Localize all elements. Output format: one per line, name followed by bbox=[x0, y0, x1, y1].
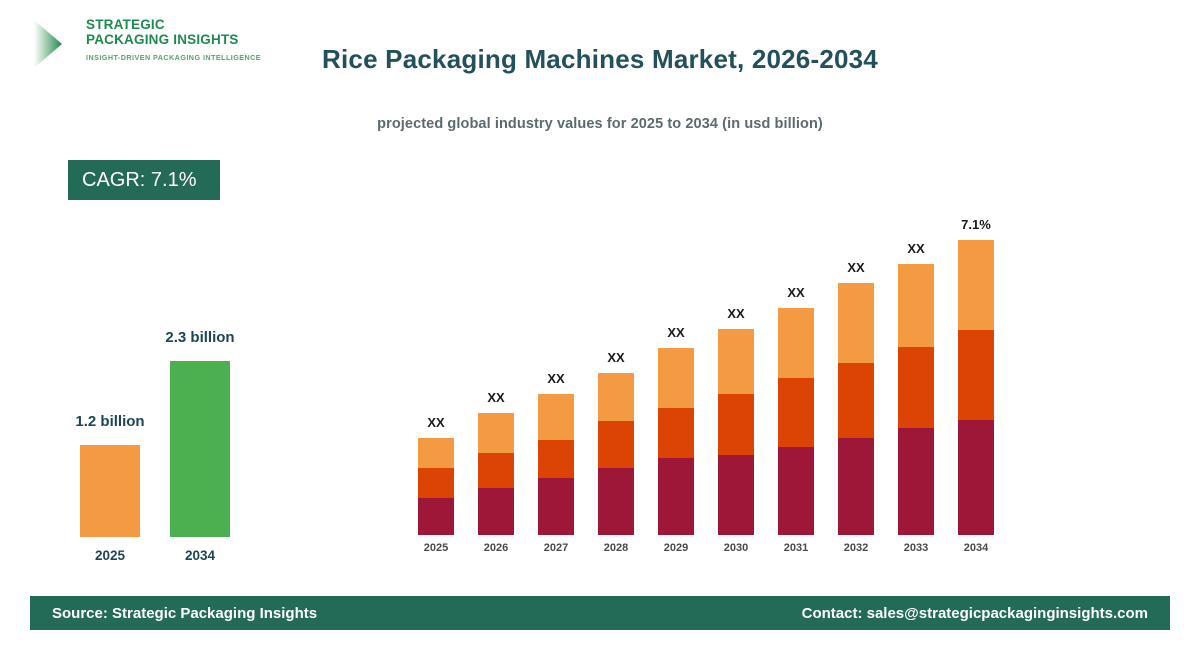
stacked-bar-2033-segment-top bbox=[898, 264, 934, 347]
stacked-bar-2025 bbox=[418, 438, 454, 535]
stacked-bar-2032-segment-top bbox=[838, 283, 874, 363]
stacked-bar-2031-segment-middle bbox=[778, 378, 814, 447]
stacked-bar-value-label-2026: XX bbox=[456, 390, 536, 405]
stacked-bar-2026 bbox=[478, 413, 514, 535]
stacked-bar-2028-segment-top bbox=[598, 373, 634, 421]
stacked-bar-value-label-2025: XX bbox=[396, 415, 476, 430]
stacked-bar-2032 bbox=[838, 283, 874, 535]
stacked-bar-2027-segment-top bbox=[538, 394, 574, 440]
stacked-bar-2032-segment-bottom bbox=[838, 438, 874, 535]
stacked-bar-2031-segment-top bbox=[778, 308, 814, 378]
footer-bar: Source: Strategic Packaging Insights Con… bbox=[30, 596, 1170, 630]
stacked-bar-value-label-2028: XX bbox=[576, 350, 656, 365]
stacked-bar-2034 bbox=[958, 240, 994, 535]
stacked-bar-2027-segment-middle bbox=[538, 440, 574, 478]
stacked-bar-2028 bbox=[598, 373, 634, 535]
stacked-bar-2026-segment-bottom bbox=[478, 488, 514, 535]
stacked-bar-2029-segment-bottom bbox=[658, 458, 694, 535]
stacked-bar-2029 bbox=[658, 348, 694, 535]
stacked-bar-2033-segment-bottom bbox=[898, 428, 934, 535]
stacked-bar-year-label-2034: 2034 bbox=[936, 542, 1016, 554]
stacked-bar-2034-segment-bottom bbox=[958, 420, 994, 535]
stacked-bar-value-label-2032: XX bbox=[816, 260, 896, 275]
stacked-bar-2025-segment-top bbox=[418, 438, 454, 468]
stacked-bar-2028-segment-middle bbox=[598, 421, 634, 468]
stacked-bar-value-label-2027: XX bbox=[516, 371, 596, 386]
footer-contact-text: Contact: sales@strategicpackaginginsight… bbox=[802, 605, 1148, 622]
stacked-bar-2032-segment-middle bbox=[838, 363, 874, 438]
stacked-bar-value-label-2031: XX bbox=[756, 285, 836, 300]
stacked-bar-2025-segment-middle bbox=[418, 468, 454, 498]
stacked-bar-2031-segment-bottom bbox=[778, 447, 814, 535]
stacked-bar-2027 bbox=[538, 394, 574, 535]
stacked-bar-2031 bbox=[778, 308, 814, 535]
stacked-bar-2029-segment-middle bbox=[658, 408, 694, 458]
stacked-bar-2030 bbox=[718, 329, 754, 535]
stacked-bar-2026-segment-top bbox=[478, 413, 514, 453]
stacked-bar-value-label-2030: XX bbox=[696, 306, 776, 321]
stacked-bar-value-label-2033: XX bbox=[876, 241, 956, 256]
stacked-bar-2033 bbox=[898, 264, 934, 535]
stacked-bar-2030-segment-middle bbox=[718, 394, 754, 455]
stacked-bar-2034-segment-top bbox=[958, 240, 994, 330]
stacked-bar-2028-segment-bottom bbox=[598, 468, 634, 535]
stacked-bar-2034-segment-middle bbox=[958, 330, 994, 420]
footer-source-text: Source: Strategic Packaging Insights bbox=[52, 605, 317, 622]
stacked-bar-2027-segment-bottom bbox=[538, 478, 574, 535]
stacked-bar-2033-segment-middle bbox=[898, 347, 934, 428]
stacked-bar-value-label-2029: XX bbox=[636, 325, 716, 340]
stacked-bar-2029-segment-top bbox=[658, 348, 694, 408]
stacked-bar-2030-segment-top bbox=[718, 329, 754, 394]
stacked-bar-2026-segment-middle bbox=[478, 453, 514, 488]
stacked-bar-chart: XX2025XX2026XX2027XX2028XX2029XX2030XX20… bbox=[0, 0, 1200, 650]
stacked-bar-2025-segment-bottom bbox=[418, 498, 454, 535]
stacked-bar-value-label-2034: 7.1% bbox=[936, 217, 1016, 232]
stacked-bar-2030-segment-bottom bbox=[718, 455, 754, 535]
